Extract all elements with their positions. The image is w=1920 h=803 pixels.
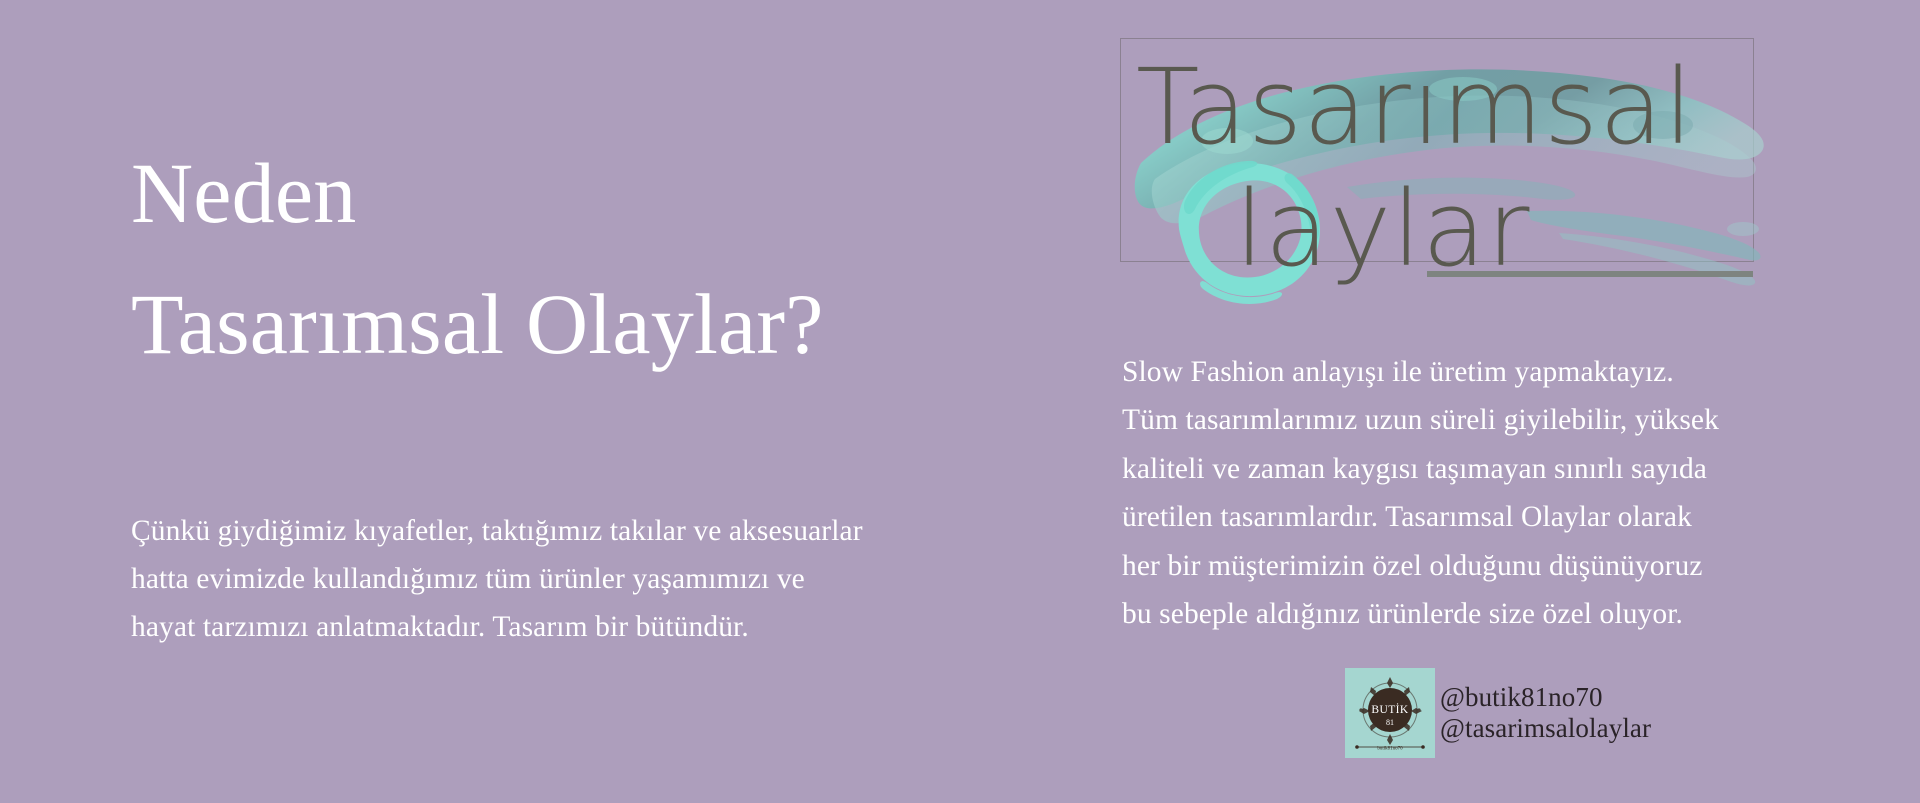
headline-line-2: Tasarımsal Olaylar?: [131, 259, 951, 390]
instagram-handle-tasarimsal[interactable]: @tasarimsalolaylar: [1440, 713, 1651, 744]
badge-number-text: 81: [1386, 718, 1394, 727]
right-paragraph: Slow Fashion anlayışı ile üretim yapmakt…: [1122, 348, 1822, 638]
social-row: BUTİK 81 butik81no70 @butik81no70 @tasar…: [1345, 668, 1651, 758]
logo-artwork: Tasarımsal laylar: [1121, 39, 1753, 261]
instagram-handle-butik[interactable]: @butik81no70: [1440, 682, 1651, 713]
headline-line-1: Neden: [131, 128, 951, 259]
right-body-text: Slow Fashion anlayışı ile üretim yapmakt…: [1122, 348, 1822, 638]
brush-artwork-icon: [1107, 33, 1787, 323]
right-body-line-2: Tüm tasarımlarımız uzun süreli giyilebil…: [1122, 396, 1822, 444]
left-body-line-1: Çünkü giydiğimiz kıyafetler, taktığımız …: [131, 508, 971, 556]
brand-logo: Tasarımsal laylar: [1120, 38, 1754, 262]
left-body-text: Çünkü giydiğimiz kıyafetler, taktığımız …: [131, 508, 971, 651]
badge-brand-text: BUTİK: [1371, 702, 1408, 716]
right-column: Tasarımsal laylar: [1120, 38, 1820, 262]
right-body-line-3: kaliteli ve zaman kaygısı taşımayan sını…: [1122, 445, 1822, 493]
promo-slide: Neden Tasarımsal Olaylar? Çünkü giydiğim…: [0, 0, 1920, 803]
right-body-line-1: Slow Fashion anlayışı ile üretim yapmakt…: [1122, 348, 1822, 396]
butik81-badge-logo: BUTİK 81 butik81no70: [1345, 668, 1435, 758]
left-column: Neden Tasarımsal Olaylar?: [131, 128, 951, 389]
social-handles: @butik81no70 @tasarimsalolaylar: [1440, 682, 1651, 745]
left-body-line-3: hayat tarzımızı anlatmaktadır. Tasarım b…: [131, 604, 971, 652]
page-title: Neden Tasarımsal Olaylar?: [131, 128, 951, 389]
left-paragraph: Çünkü giydiğimiz kıyafetler, taktığımız …: [131, 508, 971, 651]
left-body-line-2: hatta evimizde kullandığımız tüm ürünler…: [131, 556, 971, 604]
right-body-line-5: her bir müşterimizin özel olduğunu düşün…: [1122, 542, 1822, 590]
right-body-line-6: bu sebeple aldığınız ürünlerde size özel…: [1122, 590, 1822, 638]
butik81-emblem-icon: BUTİK 81 butik81no70: [1345, 668, 1435, 758]
right-body-line-4: üretilen tasarımlardır. Tasarımsal Olayl…: [1122, 493, 1822, 541]
badge-tagline-text: butik81no70: [1377, 747, 1403, 752]
